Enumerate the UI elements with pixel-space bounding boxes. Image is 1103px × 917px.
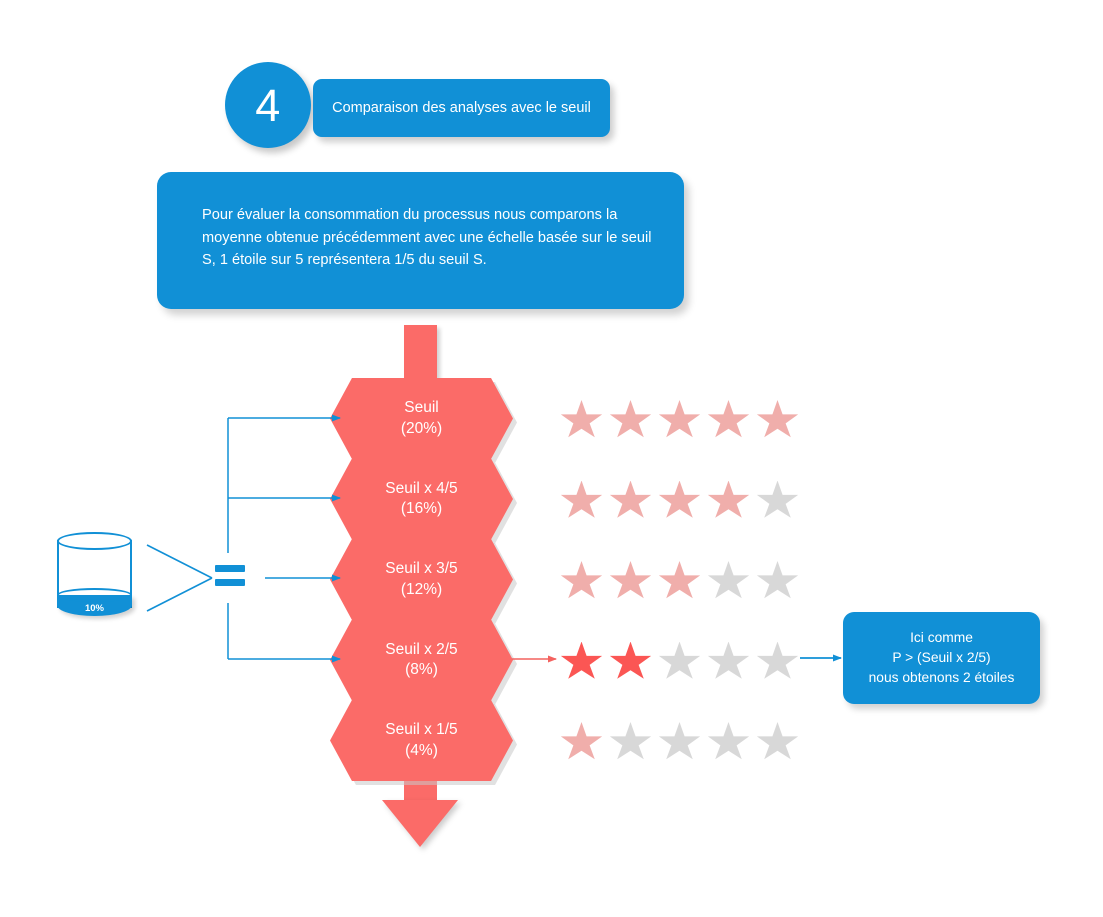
callout-line-2: P > (Seuil x 2/5) bbox=[892, 650, 990, 665]
star-empty-icon bbox=[707, 722, 750, 763]
source-cylinder: 10% bbox=[57, 532, 132, 616]
star-row bbox=[560, 722, 800, 774]
cylinder-fill-ellipse bbox=[57, 588, 132, 602]
star-empty-icon bbox=[756, 561, 799, 602]
cylinder-value-label: 10% bbox=[85, 603, 104, 614]
star-empty-icon bbox=[707, 561, 750, 602]
star-filled-icon bbox=[560, 481, 603, 522]
star-filled-icon bbox=[658, 561, 701, 602]
section-title-label: Comparaison des analyses avec le seuil bbox=[332, 99, 591, 117]
star-row bbox=[560, 400, 800, 452]
description-box: Pour évaluer la consommation du processu… bbox=[157, 172, 684, 309]
callout-line-1: Ici comme bbox=[910, 630, 973, 645]
hexagon-value: (4%) bbox=[405, 741, 438, 761]
hexagon-value: (20%) bbox=[401, 419, 442, 439]
star-empty-icon bbox=[658, 642, 701, 683]
description-text: Pour évaluer la consommation du processu… bbox=[202, 207, 651, 268]
star-filled-icon bbox=[609, 400, 652, 441]
star-row bbox=[560, 642, 800, 694]
star-empty-icon bbox=[658, 722, 701, 763]
hexagon-label: Seuil bbox=[404, 398, 438, 418]
hexagon-row[interactable]: Seuil x 4/5(16%) bbox=[330, 459, 513, 540]
star-filled-icon bbox=[560, 722, 603, 763]
star-empty-icon bbox=[756, 481, 799, 522]
equals-sign-icon bbox=[215, 565, 245, 591]
callout-line-3: nous obtenons 2 étoiles bbox=[869, 670, 1015, 685]
step-number-label: 4 bbox=[255, 83, 281, 128]
star-filled-icon bbox=[560, 642, 603, 683]
section-title-box: Comparaison des analyses avec le seuil bbox=[313, 79, 610, 137]
hexagon-value: (12%) bbox=[401, 580, 442, 600]
hexagon-row[interactable]: Seuil(20%) bbox=[330, 378, 513, 459]
star-filled-icon bbox=[756, 400, 799, 441]
hexagon-value: (16%) bbox=[401, 499, 442, 519]
hexagon-label: Seuil x 2/5 bbox=[385, 640, 457, 660]
star-filled-icon bbox=[609, 481, 652, 522]
hexagon-label: Seuil x 4/5 bbox=[385, 479, 457, 499]
star-filled-icon bbox=[707, 481, 750, 522]
star-empty-icon bbox=[756, 642, 799, 683]
star-row bbox=[560, 561, 800, 613]
process-arrow-bottom-head bbox=[382, 800, 458, 847]
hexagon-label: Seuil x 3/5 bbox=[385, 559, 457, 579]
hexagon-value: (8%) bbox=[405, 660, 438, 680]
hexagon-row[interactable]: Seuil x 2/5(8%) bbox=[330, 620, 513, 701]
star-filled-icon bbox=[560, 561, 603, 602]
star-empty-icon bbox=[609, 722, 652, 763]
process-arrow-top bbox=[404, 325, 437, 387]
connector-lines bbox=[0, 0, 1103, 917]
star-filled-icon bbox=[560, 400, 603, 441]
star-filled-icon bbox=[609, 561, 652, 602]
star-filled-icon bbox=[658, 400, 701, 441]
cylinder-top-ellipse bbox=[57, 532, 132, 550]
star-filled-icon bbox=[707, 400, 750, 441]
diagram-canvas: 4 Comparaison des analyses avec le seuil… bbox=[0, 0, 1103, 917]
star-filled-icon bbox=[658, 481, 701, 522]
hexagon-row[interactable]: Seuil x 3/5(12%) bbox=[330, 539, 513, 620]
hexagon-row[interactable]: Seuil x 1/5(4%) bbox=[330, 700, 513, 781]
step-number-badge: 4 bbox=[225, 62, 311, 148]
result-callout-box: Ici comme P > (Seuil x 2/5) nous obtenon… bbox=[843, 612, 1040, 704]
star-empty-icon bbox=[756, 722, 799, 763]
hexagon-label: Seuil x 1/5 bbox=[385, 720, 457, 740]
star-row bbox=[560, 481, 800, 533]
star-empty-icon bbox=[707, 642, 750, 683]
bracket-gt-icon bbox=[147, 545, 212, 611]
star-filled-icon bbox=[609, 642, 652, 683]
